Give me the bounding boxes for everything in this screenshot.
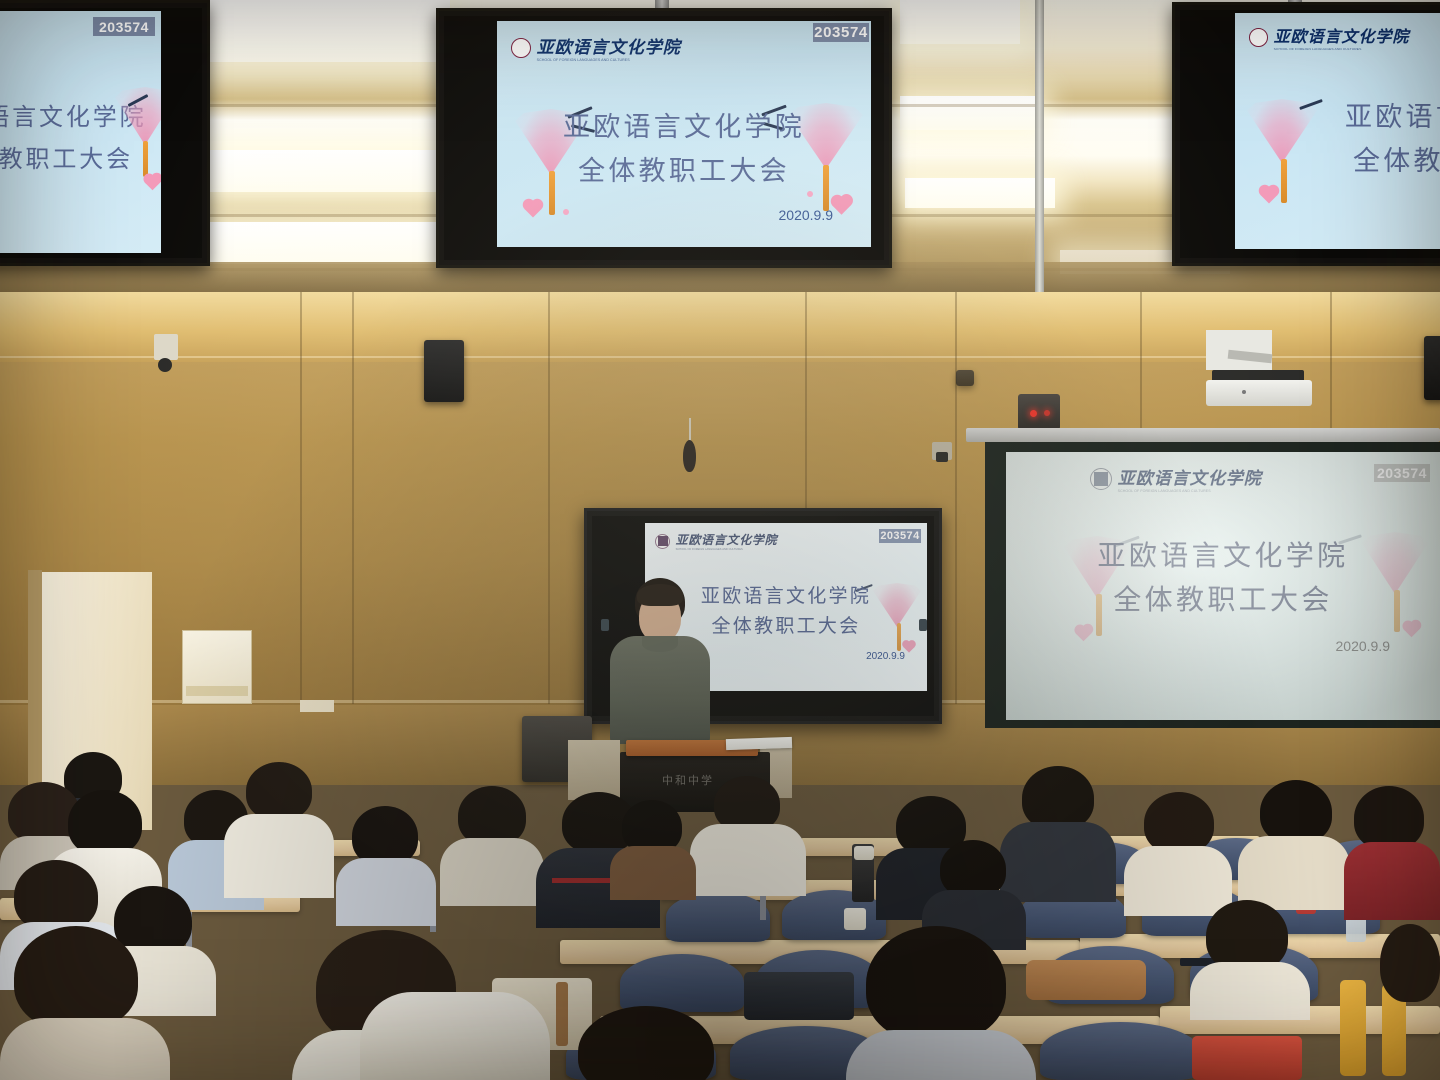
projector-indicator (1242, 390, 1246, 394)
slide-date: 2020.9.9 (779, 207, 834, 223)
wall-seam-2 (352, 292, 354, 704)
decor-heart-a (525, 201, 542, 218)
audience-member (690, 776, 806, 896)
audience-member (610, 800, 696, 900)
decor-sprinkle-a (563, 209, 569, 215)
slide-logo: 亚欧语言文化学院 SCHOOL OF FOREIGN LANGUAGES AND… (1090, 464, 1262, 493)
microphone-capsule (683, 440, 696, 472)
school-crest-icon (511, 38, 531, 58)
jacket-on-chair (1026, 960, 1146, 1000)
status-led-red-2 (1044, 410, 1050, 416)
slide-title-line1: 亚欧语言文化学院 (497, 105, 871, 144)
decor-heart-a (832, 196, 850, 214)
audience-hair (68, 790, 142, 856)
decor-heart (145, 175, 161, 191)
audience-member (846, 926, 1036, 1080)
slide-logo-cn: 亚欧语言文化学院 (1118, 464, 1262, 489)
tote-bag-red (1192, 1036, 1302, 1080)
slide-date: 2020.9.9 (1336, 638, 1391, 654)
audience-hair (14, 926, 138, 1030)
wall-seam-1 (300, 292, 302, 704)
slide-center: 亚欧语言文化学院 SCHOOL OF FOREIGN LANGUAGES AND… (497, 21, 871, 247)
podium-base-left (568, 740, 620, 800)
ceiling-light-panel-3 (205, 222, 453, 264)
slide-room-badge: 203574 (93, 17, 155, 36)
slide-title-line1: 亚欧语言文化学院 (0, 97, 161, 132)
ceiling-monitor-left[interactable]: 203574 亚欧语言文化学院 全体教职工大会 2020.9.9 (0, 0, 210, 266)
slide-logo-en: SCHOOL OF FOREIGN LANGUAGES AND CULTURES (537, 58, 681, 62)
wall-sensor-lens (158, 358, 172, 372)
door-sign-strip (186, 686, 248, 696)
audience-member (336, 806, 436, 926)
audience-shoulders (336, 858, 436, 926)
audience-member (1380, 924, 1440, 1044)
presenter-torso (610, 636, 710, 744)
slide-room-badge: 203574 (813, 23, 869, 42)
school-crest-icon (655, 534, 670, 549)
audience-member (1344, 786, 1440, 920)
audience-shoulders (690, 824, 806, 896)
wall-seam-3 (548, 292, 550, 704)
wall-card (300, 700, 334, 712)
slide-logo: 亚欧语言文化学院 SCHOOL OF FOREIGN LANGUAGES AND… (1249, 23, 1409, 51)
school-crest-icon (1090, 468, 1112, 490)
slide-title-line2: 全体教职工大会 (0, 139, 161, 174)
decor-fan (1247, 99, 1317, 163)
audience-hair (1144, 792, 1214, 854)
ceiling-light-panel-5 (900, 96, 1040, 130)
ceiling-speaker-small (956, 370, 974, 386)
audience-shoulders (224, 814, 334, 898)
projection-screen: 亚欧语言文化学院 SCHOOL OF FOREIGN LANGUAGES AND… (1006, 452, 1440, 720)
equipment-control-box[interactable] (1018, 394, 1060, 430)
ceiling-light-panel-6 (905, 178, 1055, 208)
presenter (606, 578, 714, 758)
decor-heart (1076, 626, 1092, 642)
ceiling-light-panel-1 (200, 0, 450, 62)
audience-hair (458, 786, 526, 846)
audience-shoulders (610, 846, 696, 900)
audience-member (1124, 792, 1232, 916)
decor-spark (1299, 99, 1323, 110)
projector-drop-pole (1035, 0, 1044, 330)
audience-member (224, 762, 334, 898)
paper-cup (854, 846, 874, 860)
audience-shoulders (0, 1018, 170, 1080)
audience-hair (1380, 924, 1440, 1002)
audience-shoulders (360, 992, 550, 1080)
slide-logo-cn: 亚欧语言文化学院 (676, 531, 778, 548)
presenter-hair-front (637, 584, 683, 606)
ceiling-sensor-lens (936, 452, 948, 462)
ceiling-light-panel-2 (200, 150, 452, 192)
slide-title-line2: 全体教职工大会 (497, 149, 871, 188)
decor-heart (903, 641, 914, 652)
slide-room-badge: 203574 (879, 529, 921, 543)
slide-logo: 亚欧语言文化学院 SCHOOL OF FOREIGN LANGUAGES AND… (511, 33, 681, 62)
decor-heart (1404, 622, 1420, 638)
slide-title-line1: 亚欧语言文化学院 (1006, 534, 1440, 574)
audience-shoulders (846, 1030, 1036, 1080)
audience-hair (1022, 766, 1094, 830)
slide-room-badge: 203574 (1374, 464, 1430, 482)
decor-bouquet-left (1239, 89, 1343, 219)
audience-member (440, 786, 544, 906)
audience-shoulders (1238, 836, 1350, 910)
audience-hair (578, 1006, 714, 1080)
wall-seam-5 (955, 292, 957, 704)
decor-sprinkle-a (807, 191, 813, 197)
microphone-cable (689, 418, 691, 442)
slide-right: 亚欧语言文化学院 SCHOOL OF FOREIGN LANGUAGES AND… (1235, 13, 1440, 249)
ceiling-light-panel-4 (900, 0, 1020, 44)
audience-hair (352, 806, 418, 866)
audience-shoulders (440, 838, 544, 906)
slide-logo-en: SCHOOL OF FOREIGN LANGUAGES AND CULTURES (1118, 489, 1262, 493)
backpack-dark (744, 972, 854, 1020)
ceiling-projector (1200, 330, 1320, 410)
ceiling-monitor-right[interactable]: 亚欧语言文化学院 SCHOOL OF FOREIGN LANGUAGES AND… (1172, 2, 1440, 266)
projector-body (1206, 380, 1312, 406)
lecture-hall-photo: 203574 亚欧语言文化学院 全体教职工大会 2020.9.9 亚欧语言文化学… (0, 0, 1440, 1080)
slide-logo-en: SCHOOL OF FOREIGN LANGUAGES AND CULTURES (1274, 47, 1410, 51)
slide-logo-cn: 亚欧语言文化学院 (1274, 23, 1410, 47)
audience-hair (1260, 780, 1332, 844)
wall-speaker-left (424, 340, 464, 402)
school-crest-icon (1249, 28, 1268, 47)
slide-title-line2: 全体教职工大会 (1006, 578, 1440, 618)
decor-stem (1281, 159, 1287, 203)
slide-left: 203574 亚欧语言文化学院 全体教职工大会 2020.9.9 (0, 11, 161, 253)
audience-member (0, 926, 170, 1080)
ceiling-monitor-center[interactable]: 亚欧语言文化学院 SCHOOL OF FOREIGN LANGUAGES AND… (436, 8, 892, 268)
slide-logo: 亚欧语言文化学院 SCHOOL OF FOREIGN LANGUAGES AND… (655, 531, 777, 551)
slide-title-line2: 全体教职工大会 (1353, 139, 1440, 178)
audience-member (1190, 900, 1310, 1020)
audience-hair (246, 762, 312, 820)
decor-heart (1261, 187, 1278, 204)
lectern-papers (726, 737, 792, 750)
slide-logo-en: SCHOOL OF FOREIGN LANGUAGES AND CULTURES (676, 548, 778, 551)
audience-member (560, 1006, 750, 1080)
chair (620, 954, 744, 1012)
chair (1040, 1022, 1200, 1080)
panel-sensor (919, 619, 927, 631)
slide-title-line1: 亚欧语言文化学院 (1345, 95, 1440, 134)
slide-logo-cn: 亚欧语言文化学院 (537, 33, 681, 58)
audience-shoulders (1190, 962, 1310, 1020)
audience-member (1238, 780, 1350, 910)
wall-speaker-right (1424, 336, 1440, 400)
audience-member (360, 948, 550, 1080)
audience-hair (866, 926, 1006, 1042)
wall-sensor-plate (154, 334, 178, 360)
audience-hair (1354, 786, 1424, 850)
slide-date: 2020.9.9 (866, 651, 905, 662)
presenter-collar (642, 636, 678, 652)
tote-bag-yellow (1340, 980, 1366, 1076)
status-led-red (1030, 410, 1037, 417)
audience-shoulders (1344, 842, 1440, 920)
hanging-microphone-left (680, 418, 702, 480)
projection-screen-housing (966, 428, 1440, 442)
